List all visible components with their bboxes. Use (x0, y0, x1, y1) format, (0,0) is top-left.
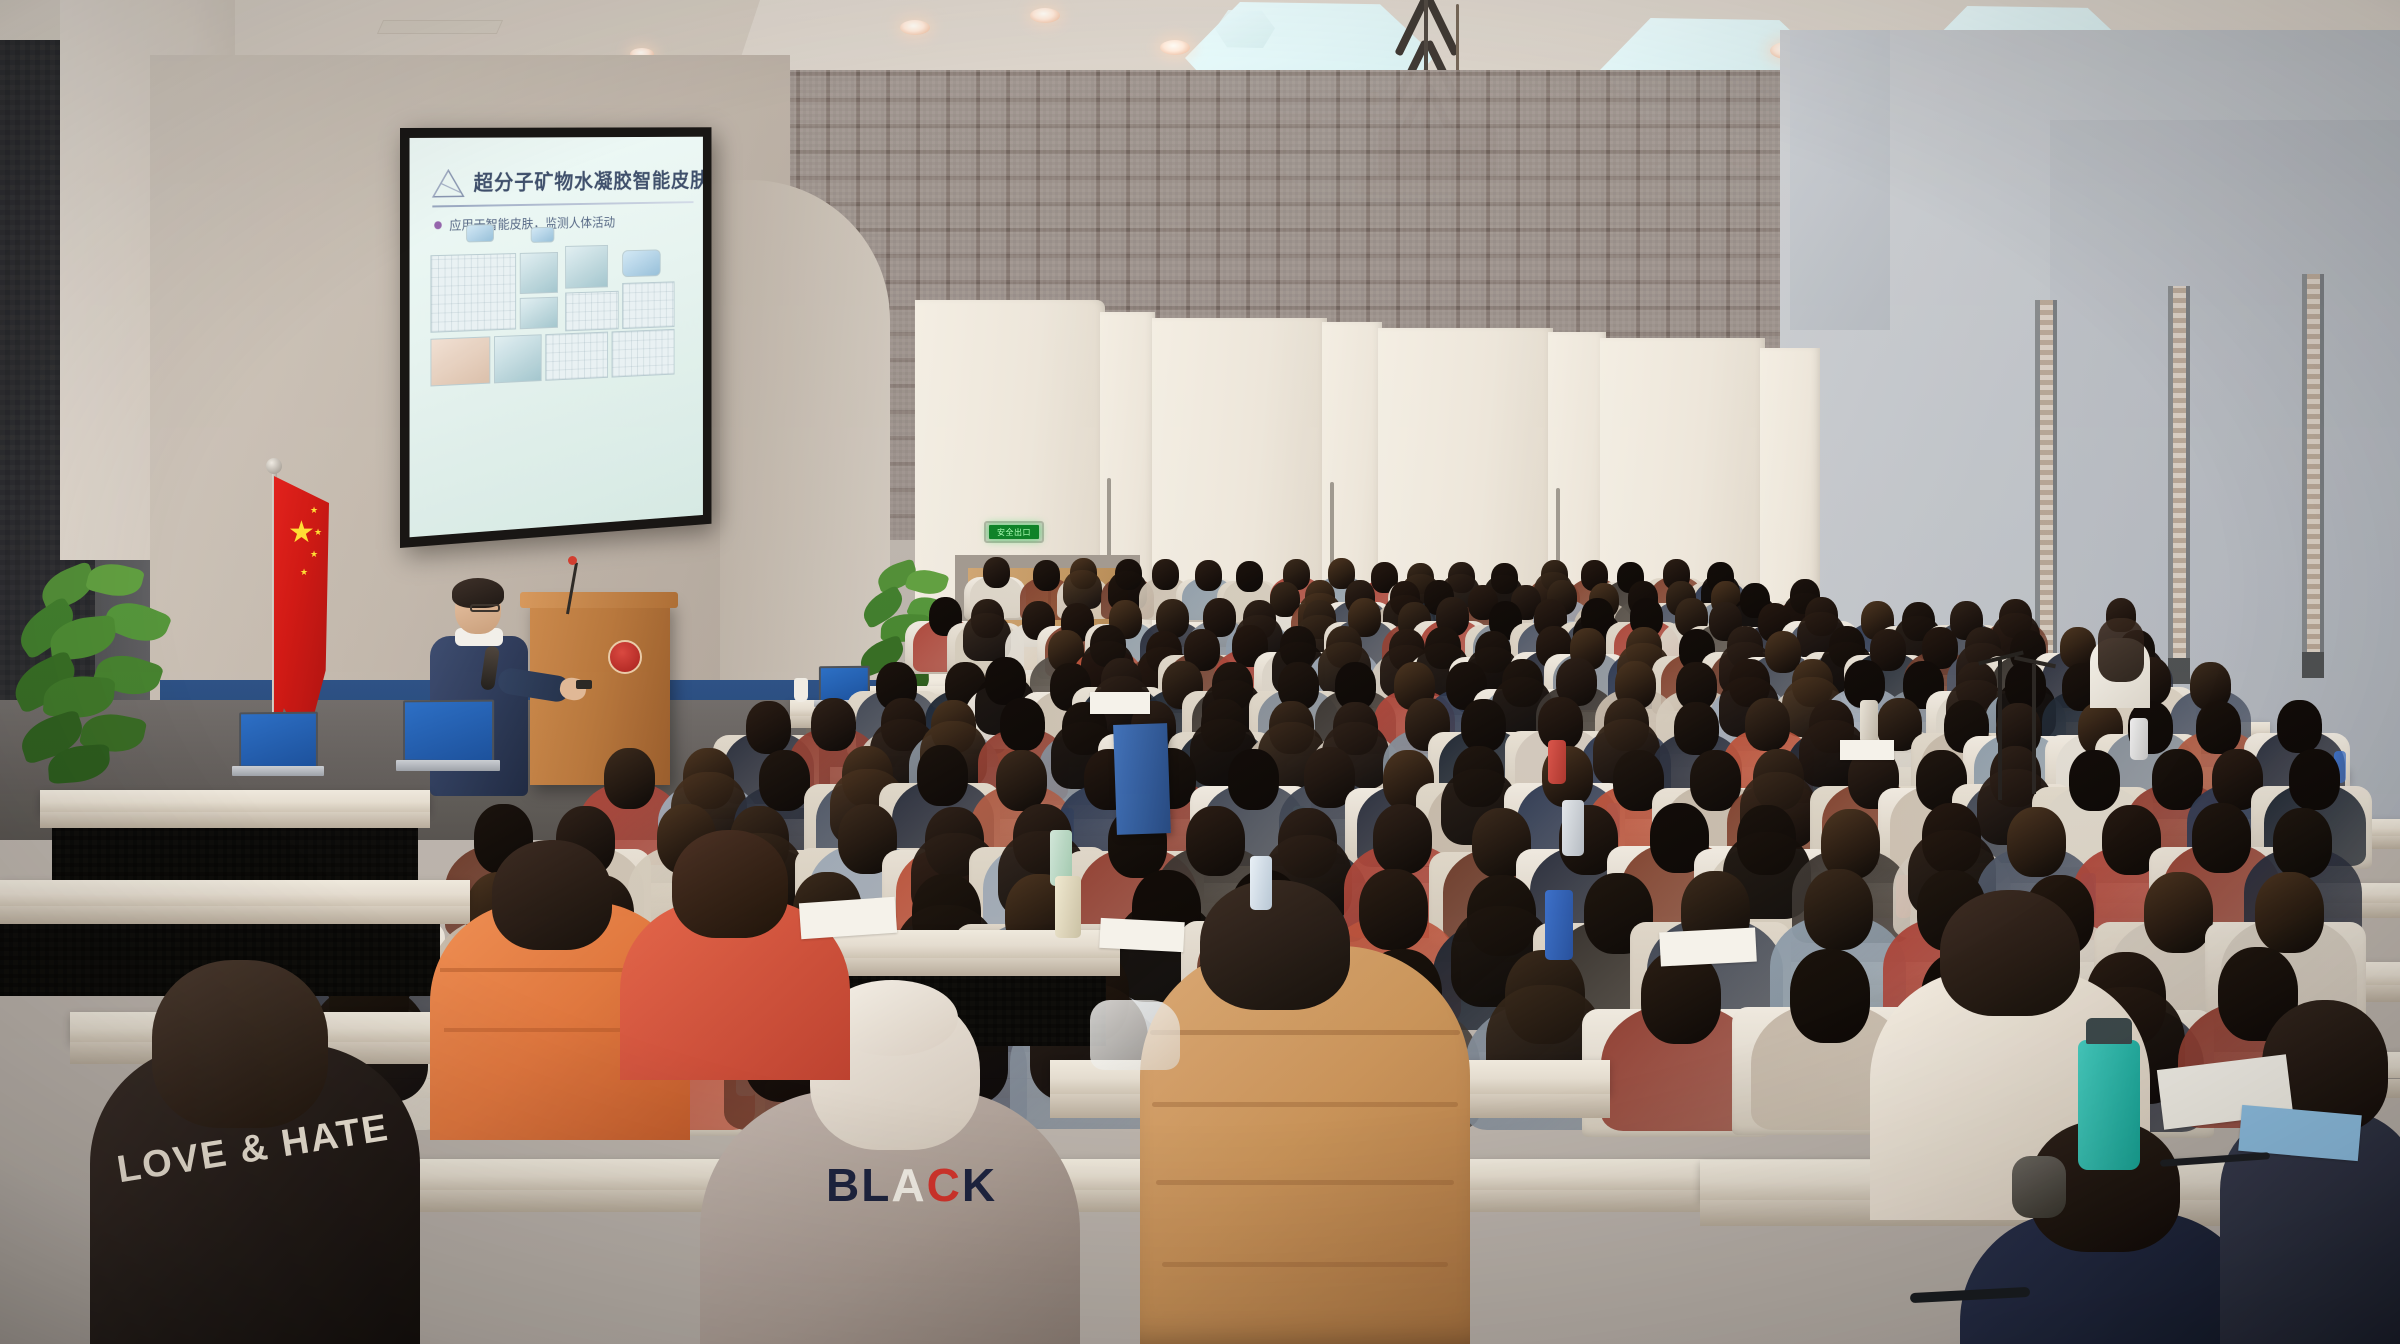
standing-attendee (2090, 598, 2150, 708)
audience-member-head (1804, 869, 1873, 950)
audience-member-head (1195, 560, 1222, 591)
audience-member-head (1373, 804, 1432, 874)
slot-window (2168, 286, 2190, 678)
audience-member-head (1790, 949, 1870, 1043)
student-reading (2220, 1000, 2400, 1344)
slide-figure (622, 249, 661, 277)
recessed-downlight (900, 20, 930, 35)
audience-member-head (917, 745, 968, 806)
audience-member-head (1033, 560, 1060, 591)
slide-title-rule (432, 201, 693, 207)
slide-figure (565, 291, 618, 332)
desk-edge (40, 812, 430, 828)
audience-member-head (1000, 698, 1045, 751)
audience-member-head (2069, 750, 2120, 811)
audience-member-head (2255, 872, 2324, 953)
slide-figure (612, 329, 675, 378)
thermos-cup[interactable] (794, 678, 808, 702)
flag-star-small: ★ (314, 528, 322, 537)
mic-stand (2032, 664, 2036, 794)
flag-star-large: ★ (288, 518, 315, 548)
audience-member-head (2196, 701, 2241, 754)
slide-figure (531, 227, 555, 243)
plastic-bag (1090, 1000, 1180, 1070)
flag-star-small: ★ (300, 568, 308, 577)
audience-member-head (746, 701, 791, 754)
student-tan-puffer (1140, 880, 1470, 1344)
notebook[interactable] (1099, 918, 1184, 952)
hoodie-text: BLACK (826, 1158, 997, 1212)
right-wall-corner (1790, 30, 1890, 330)
audience-member-head (996, 750, 1047, 811)
recessed-downlight (1030, 8, 1060, 23)
audience-member-head (1228, 749, 1279, 810)
bullet-dot-icon (434, 221, 442, 229)
audience-member-head (983, 557, 1010, 588)
audience-member-head (2277, 700, 2322, 753)
audience-member-head (604, 748, 655, 809)
thermos-bottle[interactable] (1545, 890, 1573, 960)
headphone-cup[interactable] (2012, 1156, 2066, 1218)
flag-star-small: ★ (310, 506, 318, 515)
audience-member-head (1236, 561, 1263, 592)
water-bottle[interactable] (2078, 1040, 2140, 1170)
thermos-cup[interactable] (1860, 700, 1878, 744)
audience-member-head (759, 750, 810, 811)
slide-figure (494, 334, 542, 383)
slide-figure (565, 245, 608, 289)
flag-star-small: ★ (310, 550, 318, 559)
blue-display-box (1113, 723, 1171, 835)
mic-stand (1998, 660, 2002, 800)
triangle-outline-logo (430, 167, 466, 201)
water-bottle[interactable] (1548, 740, 1566, 784)
lectern-top (520, 592, 678, 608)
bottle-cap[interactable] (2086, 1018, 2132, 1044)
student-love-hate-jacket: LOVE & HATE (90, 960, 420, 1344)
laptop-screen[interactable] (403, 700, 494, 763)
slot-window-base (2302, 652, 2324, 678)
audience-member-head (2144, 872, 2213, 953)
long-hair (2098, 618, 2144, 682)
slide-figure (545, 332, 608, 381)
slide-clicker[interactable] (576, 680, 592, 689)
desk-edge (0, 906, 470, 924)
audience-member-head (811, 698, 856, 751)
water-bottle[interactable] (1055, 876, 1081, 938)
slide-title: 超分子矿物水凝胶智能皮肤 (474, 165, 703, 197)
tissue-box (1090, 692, 1150, 714)
audience-member-head (1674, 702, 1719, 755)
notebook[interactable] (799, 897, 897, 940)
recessed-downlight (1160, 40, 1190, 55)
notebook[interactable] (1659, 928, 1757, 967)
potted-plant-left (10, 560, 190, 790)
laptop-screen[interactable] (239, 712, 318, 769)
podium-microphone-head (568, 556, 577, 565)
slot-window (2302, 274, 2324, 674)
thermos-cup[interactable] (2130, 718, 2148, 760)
slide-figure (520, 252, 558, 294)
projection-screen-frame: 超分子矿物水凝胶智能皮肤 应用于智能皮肤，监测人体活动 (400, 127, 711, 548)
audience-member-head (2192, 803, 2251, 873)
audience-member-longhair (963, 613, 1011, 661)
exit-sign-text: 安全出口 (989, 525, 1039, 539)
speaker-eyeglasses (470, 604, 500, 612)
slide-figure (430, 253, 516, 333)
slide-figure (430, 336, 490, 386)
student-red-coat (620, 830, 850, 1080)
audience-member-head (2289, 749, 2340, 810)
audience-member-head (2273, 808, 2332, 878)
slide-figure (520, 297, 558, 330)
slide-figure (622, 281, 674, 329)
lecture-hall-photo: 安全出口 超分子矿物水凝胶智能皮肤 应用于智能皮肤，监测人体活动 (0, 0, 2400, 1344)
projection-screen: 超分子矿物水凝胶智能皮肤 应用于智能皮肤，监测人体活动 (410, 137, 703, 538)
flag-finial (266, 458, 282, 474)
papers (1840, 740, 1894, 760)
slide-figure (466, 224, 494, 242)
water-bottle[interactable] (1250, 856, 1272, 910)
exit-sign: 安全出口 (984, 521, 1044, 543)
laptop-base[interactable] (396, 760, 500, 771)
audience-member-head (1152, 559, 1179, 590)
ceiling-slot-vent (377, 20, 503, 34)
desk-row (40, 790, 430, 812)
audience-member-head (1186, 806, 1245, 876)
audience-member-head (1745, 698, 1790, 751)
university-crest-emblem (608, 640, 642, 674)
laptop-base[interactable] (232, 766, 324, 776)
thermos-bottle[interactable] (1562, 800, 1584, 856)
desk-row (0, 880, 470, 906)
audience-member-head (2007, 807, 2066, 877)
audience-member-head (1461, 699, 1506, 752)
slot-window (2035, 300, 2057, 680)
